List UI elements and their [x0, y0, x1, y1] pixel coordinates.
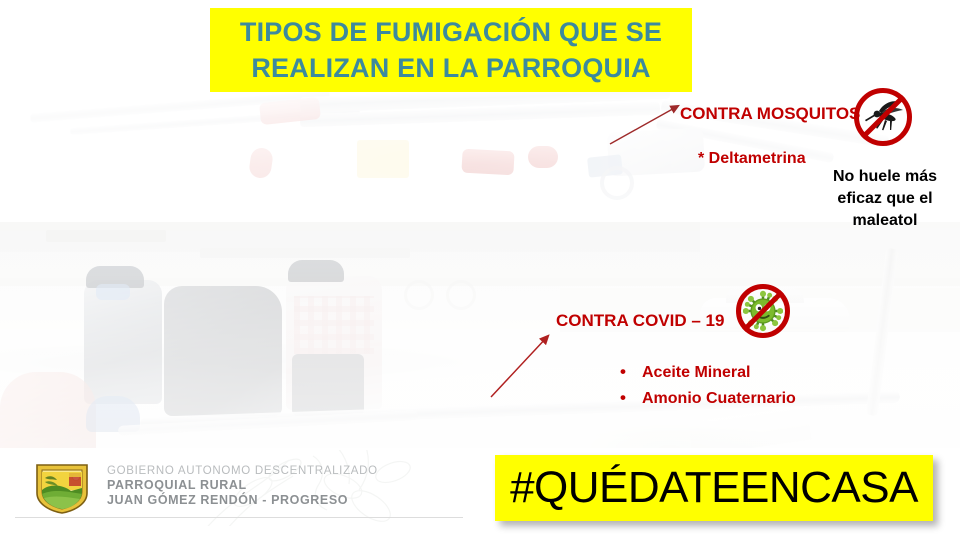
hashtag-banner: #QUÉDATEENCASA [495, 455, 933, 521]
fogging-machine-photo [0, 78, 960, 222]
mosquito-prohibition-icon [854, 88, 912, 146]
logo-line-3: JUAN GÓMEZ RENDÓN - PROGRESO [107, 493, 378, 508]
maleatol-note: No huele más eficaz que el maleatol [820, 166, 950, 232]
arrow-to-covid-label [488, 328, 560, 400]
covid-product-list: Aceite Mineral Amonio Cuaternario [620, 360, 796, 412]
poster-title-line-1: TIPOS DE FUMIGACIÓN QUE SE [240, 14, 662, 50]
covid-heading: CONTRA COVID – 19 [556, 311, 724, 331]
fumigation-infographic-poster: TIPOS DE FUMIGACIÓN QUE SE REALIZAN EN L… [0, 0, 960, 540]
coat-of-arms-shield-icon [33, 460, 91, 516]
photo-bottom-gradient-wash [0, 222, 960, 448]
arrow-to-mosquito-label [608, 98, 690, 146]
covid-product-item: Amonio Cuaternario [620, 386, 796, 412]
mosquito-heading: CONTRA MOSQUITOS [680, 104, 860, 124]
logo-line-2: PARROQUIAL RURAL [107, 478, 378, 493]
logo-text-block: GOBIERNO AUTONOMO DESCENTRALIZADO PARROQ… [107, 464, 378, 508]
covid-product-item: Aceite Mineral [620, 360, 796, 386]
logo-divider [15, 517, 463, 518]
logo-line-1: GOBIERNO AUTONOMO DESCENTRALIZADO [107, 464, 378, 478]
organization-logo-panel: GOBIERNO AUTONOMO DESCENTRALIZADO PARROQ… [15, 450, 463, 526]
covid-virus-prohibition-icon [736, 284, 790, 338]
hashtag-text: #QUÉDATEENCASA [510, 464, 918, 512]
deltametrina-label: * Deltametrina [698, 150, 806, 168]
poster-title-line-2: REALIZAN EN LA PARROQUIA [251, 50, 650, 86]
poster-title-box: TIPOS DE FUMIGACIÓN QUE SE REALIZAN EN L… [210, 8, 692, 92]
workers-fumigating-street-photo [0, 222, 960, 448]
photo-top-whitewash [0, 78, 960, 222]
